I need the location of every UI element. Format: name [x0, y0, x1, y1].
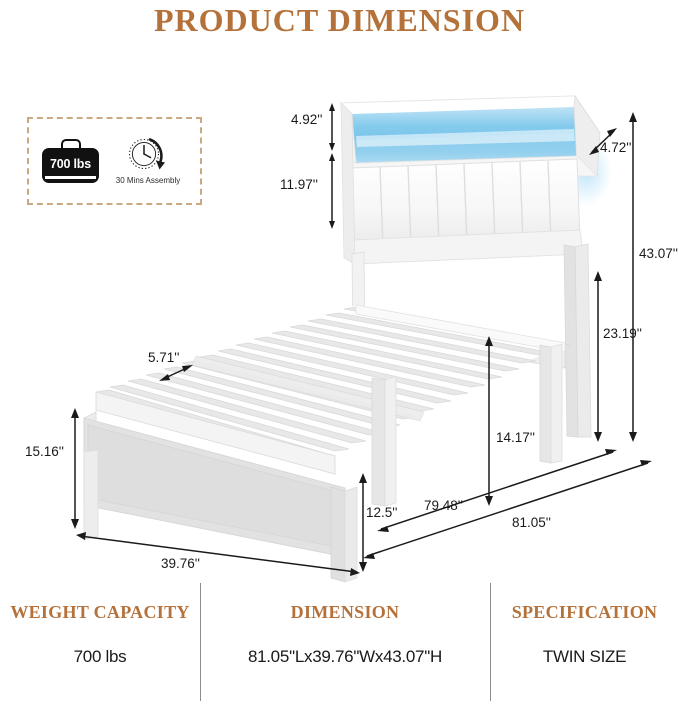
spec-header-weight-capacity: WEIGHT CAPACITY — [0, 602, 200, 623]
dim-total-length: 81.05'' — [512, 515, 551, 530]
dim-leg-clearance: 12.5'' — [366, 505, 397, 520]
dim-total-height: 43.07'' — [639, 246, 678, 261]
spec-column-specification: SPECIFICATION TWIN SIZE — [490, 583, 679, 667]
dim-total-width: 39.76'' — [161, 556, 200, 571]
spec-value-specification: TWIN SIZE — [490, 647, 679, 667]
spec-table: WEIGHT CAPACITY 700 lbs DIMENSION 81.05'… — [0, 583, 679, 701]
dim-headboard-depth: 4.72'' — [600, 140, 631, 155]
spec-column-dimension: DIMENSION 81.05''Lx39.76''Wx43.07''H — [200, 583, 490, 667]
spec-value-weight-capacity: 700 lbs — [0, 647, 200, 667]
dim-shelf-height: 4.92'' — [291, 112, 322, 127]
spec-column-weight-capacity: WEIGHT CAPACITY 700 lbs — [0, 583, 200, 667]
spec-header-dimension: DIMENSION — [200, 602, 490, 623]
dim-clearance-height: 23.19'' — [603, 326, 642, 341]
spec-value-dimension: 81.05''Lx39.76''Wx43.07''H — [200, 647, 490, 667]
dim-inner-length: 79.48'' — [424, 498, 463, 513]
dim-underbed-height: 14.17'' — [496, 430, 535, 445]
dim-headboard-panel: 11.97'' — [280, 177, 318, 192]
dim-slat-spacing: 5.71'' — [148, 350, 179, 365]
spec-header-specification: SPECIFICATION — [490, 602, 679, 623]
dim-footboard-height: 15.16'' — [25, 444, 64, 459]
product-dimension-page: PRODUCT DIMENSION 700 lbs — [0, 0, 679, 718]
